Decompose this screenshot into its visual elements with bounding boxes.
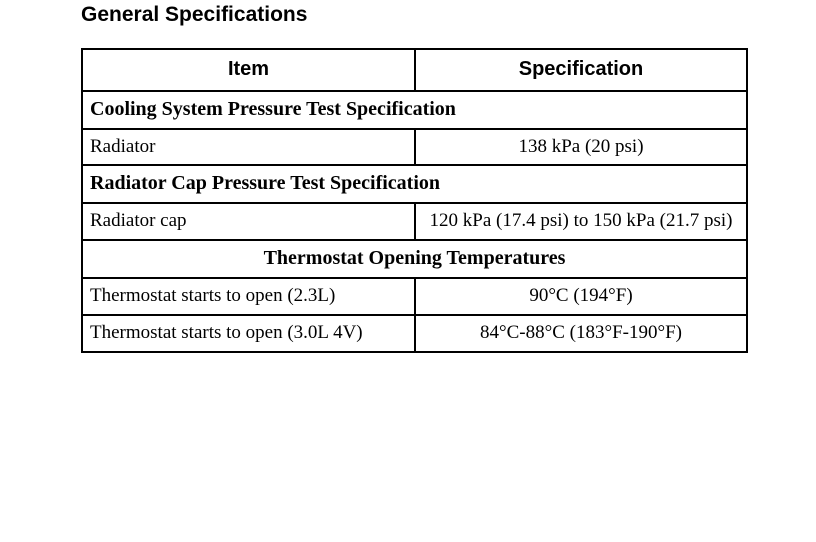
row-item-cell: Radiator cap <box>82 203 415 240</box>
table-row: Thermostat starts to open (2.3L) 90°C (1… <box>82 278 747 315</box>
section-header-cell: Thermostat Opening Temperatures <box>82 240 747 278</box>
row-item-label: Radiator cap <box>83 204 414 239</box>
table-header-row: Item Specification <box>82 49 747 91</box>
table-row: Radiator 138 kPa (20 psi) <box>82 129 747 165</box>
specification-document: General Specifications Item Specificatio… <box>0 0 816 542</box>
row-item-cell: Thermostat starts to open (3.0L 4V) <box>82 315 415 352</box>
page-title: General Specifications <box>81 2 307 28</box>
column-header-item-label: Item <box>83 50 414 90</box>
column-header-item: Item <box>82 49 415 91</box>
section-header-label: Cooling System Pressure Test Specificati… <box>83 92 746 128</box>
row-specification-cell: 90°C (194°F) <box>415 278 747 315</box>
table-row: Thermostat starts to open (3.0L 4V) 84°C… <box>82 315 747 352</box>
general-specifications-table: Item Specification Cooling System Pressu… <box>81 48 748 353</box>
section-header-cell: Cooling System Pressure Test Specificati… <box>82 91 747 129</box>
table-row: Radiator cap 120 kPa (17.4 psi) to 150 k… <box>82 203 747 240</box>
row-item-label: Thermostat starts to open (3.0L 4V) <box>83 316 414 351</box>
row-specification-cell: 138 kPa (20 psi) <box>415 129 747 165</box>
row-specification-value: 84°C-88°C (183°F-190°F) <box>416 316 746 351</box>
row-item-cell: Radiator <box>82 129 415 165</box>
row-item-cell: Thermostat starts to open (2.3L) <box>82 278 415 315</box>
section-header-label: Thermostat Opening Temperatures <box>83 241 746 277</box>
table-section-row: Thermostat Opening Temperatures <box>82 240 747 278</box>
row-specification-value: 90°C (194°F) <box>416 279 746 314</box>
column-header-specification-label: Specification <box>416 50 746 90</box>
table-section-row: Cooling System Pressure Test Specificati… <box>82 91 747 129</box>
row-specification-value: 138 kPa (20 psi) <box>416 130 746 164</box>
section-header-label: Radiator Cap Pressure Test Specification <box>83 166 746 202</box>
section-header-cell: Radiator Cap Pressure Test Specification <box>82 165 747 203</box>
column-header-specification: Specification <box>415 49 747 91</box>
row-specification-cell: 120 kPa (17.4 psi) to 150 kPa (21.7 psi) <box>415 203 747 240</box>
table-section-row: Radiator Cap Pressure Test Specification <box>82 165 747 203</box>
row-item-label: Radiator <box>83 130 414 164</box>
row-specification-cell: 84°C-88°C (183°F-190°F) <box>415 315 747 352</box>
row-item-label: Thermostat starts to open (2.3L) <box>83 279 414 314</box>
row-specification-value: 120 kPa (17.4 psi) to 150 kPa (21.7 psi) <box>416 204 746 239</box>
